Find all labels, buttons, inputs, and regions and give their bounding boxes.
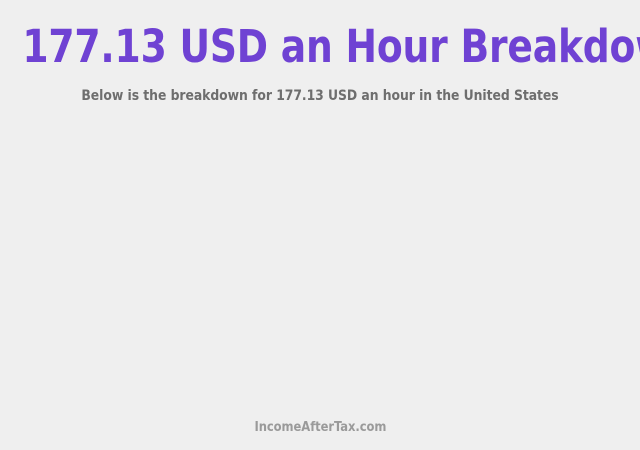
breakdown-page: 177.13 USD an Hour Breakdown Below is th… <box>0 0 640 450</box>
page-subtitle: Below is the breakdown for 177.13 USD an… <box>16 73 624 105</box>
page-title: 177.13 USD an Hour Breakdown <box>22 21 617 73</box>
breakdown-content-area <box>0 105 640 418</box>
page-header: 177.13 USD an Hour Breakdown Below is th… <box>0 0 640 105</box>
page-footer: IncomeAfterTax.com <box>0 418 640 450</box>
site-credit-label: IncomeAfterTax.com <box>254 419 386 435</box>
